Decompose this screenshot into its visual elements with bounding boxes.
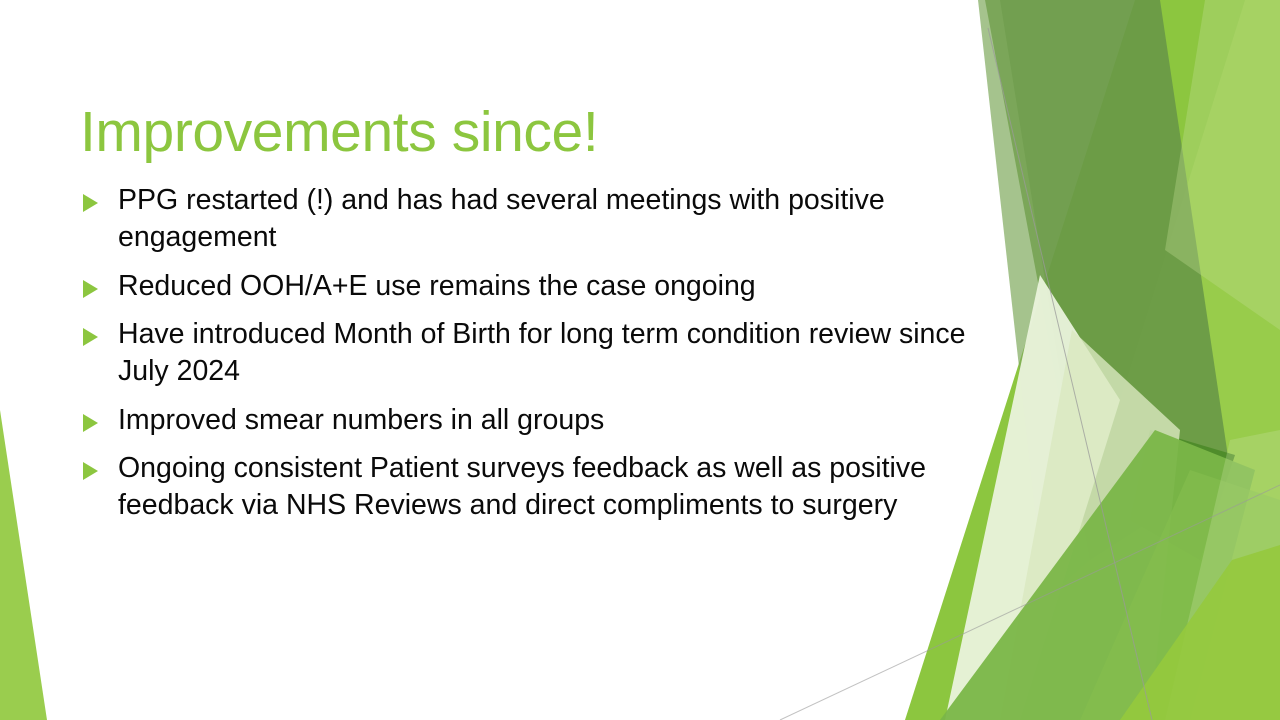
- list-item-label: Improved smear numbers in all groups: [118, 402, 1020, 439]
- triangle-right-icon: [80, 268, 118, 298]
- triangle-right-icon: [80, 316, 118, 346]
- triangle-right-icon: [80, 450, 118, 480]
- list-item: Reduced OOH/A+E use remains the case ong…: [80, 268, 1020, 305]
- list-item: PPG restarted (!) and has had several me…: [80, 182, 1020, 257]
- bullet-list: PPG restarted (!) and has had several me…: [80, 182, 1020, 536]
- list-item: Have introduced Month of Birth for long …: [80, 316, 1020, 391]
- triangle-right-icon: [80, 402, 118, 432]
- slide-title: Improvements since!: [80, 104, 960, 161]
- list-item-label: Have introduced Month of Birth for long …: [118, 316, 1020, 391]
- list-item: Ongoing consistent Patient surveys feedb…: [80, 450, 1020, 525]
- list-item-label: Reduced OOH/A+E use remains the case ong…: [118, 268, 1020, 305]
- list-item-label: PPG restarted (!) and has had several me…: [118, 182, 1020, 257]
- slide-content: Improvements since! PPG restarted (!) an…: [0, 0, 1280, 720]
- slide-canvas: Improvements since! PPG restarted (!) an…: [0, 0, 1280, 720]
- list-item-label: Ongoing consistent Patient surveys feedb…: [118, 450, 1020, 525]
- list-item: Improved smear numbers in all groups: [80, 402, 1020, 439]
- triangle-right-icon: [80, 182, 118, 212]
